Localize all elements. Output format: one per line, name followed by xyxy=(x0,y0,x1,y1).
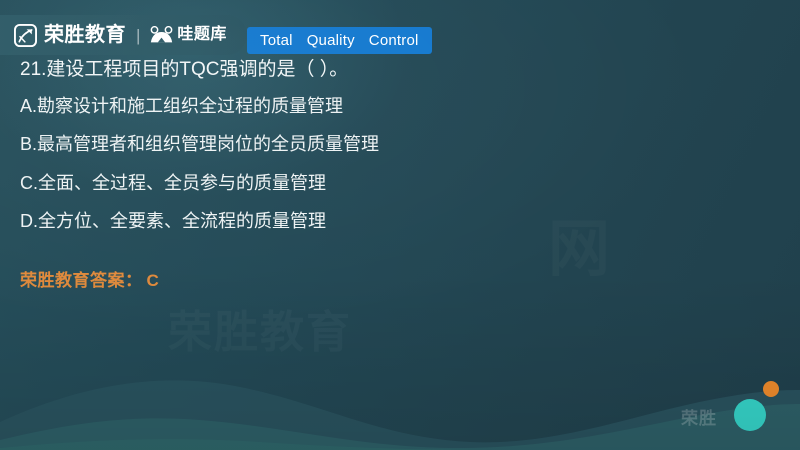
decorative-teal-circle xyxy=(734,399,766,431)
question-body: 21.建设工程项目的TQC强调的是（ ）。 A.勘察设计和施工组织全过程的质量管… xyxy=(20,58,660,233)
option-b[interactable]: B.最高管理者和组织管理岗位的全员质量管理 xyxy=(20,133,660,156)
answer-value: C xyxy=(147,271,160,290)
tqc-badge: Total Quality Control xyxy=(247,27,432,54)
answer-line: 荣胜教育答案：C xyxy=(20,266,159,291)
option-a[interactable]: A.勘察设计和施工组织全过程的质量管理 xyxy=(20,95,660,118)
decorative-orange-circle xyxy=(763,381,779,397)
brand-name: 荣胜教育 xyxy=(44,25,126,45)
slide-screen: 荣胜教育 网 荣胜 荣胜教育 | 哇题库 xyxy=(0,0,800,450)
option-c[interactable]: C.全面、全过程、全员参与的质量管理 xyxy=(20,172,660,195)
frog-icon xyxy=(149,26,174,44)
badge-word-quality: Quality xyxy=(307,33,355,48)
brand-separator: | xyxy=(136,27,140,44)
badge-word-control: Control xyxy=(369,33,419,48)
sub-brand-name: 哇题库 xyxy=(177,27,227,43)
answer-label: 荣胜教育答案： xyxy=(20,271,143,290)
rongsheng-logo-mark-icon xyxy=(14,24,37,47)
bottom-wave-decoration xyxy=(0,330,800,450)
badge-word-total: Total xyxy=(260,33,293,48)
option-d[interactable]: D.全方位、全要素、全流程的质量管理 xyxy=(20,210,660,233)
header-bar: 荣胜教育 | 哇题库 xyxy=(0,15,247,55)
question-stem: 21.建设工程项目的TQC强调的是（ ）。 xyxy=(20,58,660,82)
brand-logo-pill[interactable]: 荣胜教育 | 哇题库 xyxy=(0,15,247,55)
